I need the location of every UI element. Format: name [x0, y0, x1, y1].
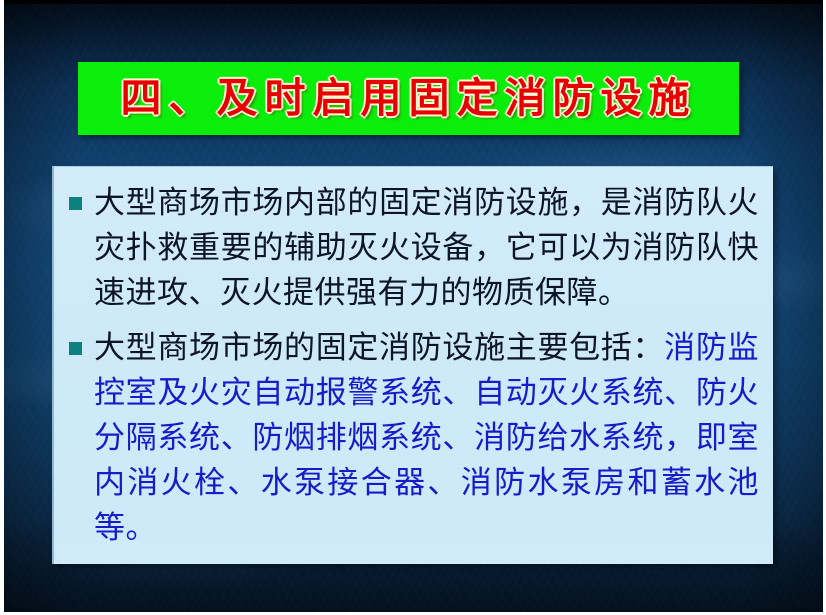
bullet-2-segment-1: 大型商场市场的固定消防设施主要包括：	[94, 330, 664, 366]
bullet-item-2: 大型商场市场的固定消防设施主要包括：消防监控室及火灾自动报警系统、自动灭火系统、…	[64, 326, 759, 551]
square-bullet-icon	[69, 197, 82, 210]
slide-frame-top	[0, 0, 826, 4]
bullet-item-2-text: 大型商场市场的固定消防设施主要包括：消防监控室及火灾自动报警系统、自动灭火系统、…	[94, 326, 759, 551]
bullet-item-1: 大型商场市场内部的固定消防设施，是消防队火灾扑救重要的辅助灭火设备，它可以为消防…	[64, 181, 759, 316]
title-banner: 四、及时启用固定消防设施	[78, 62, 739, 135]
presentation-slide: 四、及时启用固定消防设施 大型商场市场内部的固定消防设施，是消防队火灾扑救重要的…	[0, 0, 826, 615]
bullet-item-1-text: 大型商场市场内部的固定消防设施，是消防队火灾扑救重要的辅助灭火设备，它可以为消防…	[94, 181, 759, 316]
bullet-1-segment-1: 大型商场市场内部的固定消防设施，是消防队火灾扑救重要的辅助灭火设备，它可以为消防…	[94, 185, 759, 311]
slide-frame-left	[0, 0, 4, 615]
content-box: 大型商场市场内部的固定消防设施，是消防队火灾扑救重要的辅助灭火设备，它可以为消防…	[52, 166, 773, 564]
square-bullet-icon	[69, 342, 82, 355]
slide-title: 四、及时启用固定消防设施	[121, 78, 697, 119]
